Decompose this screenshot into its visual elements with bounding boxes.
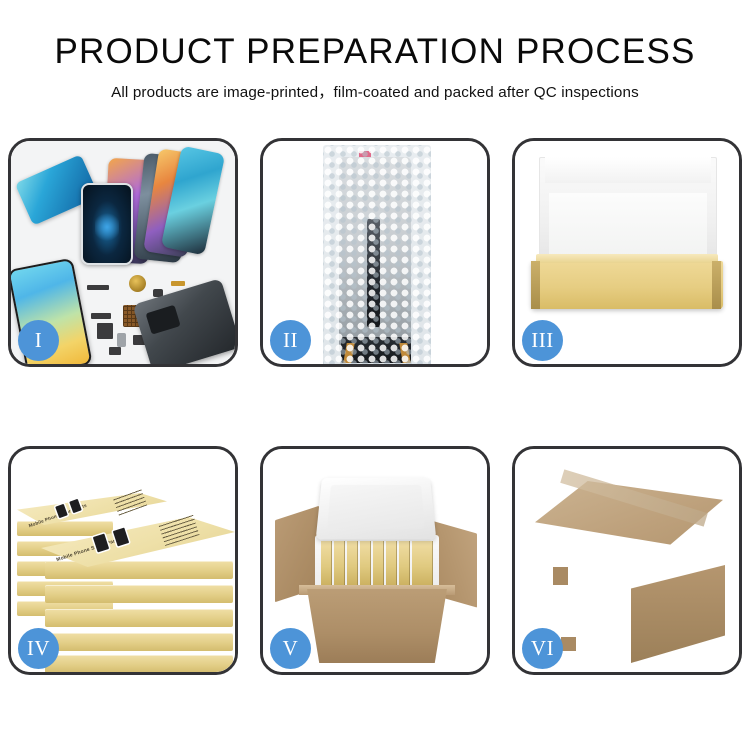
step-badge-1: I: [18, 320, 59, 361]
step-badge-2: II: [270, 320, 311, 361]
yellow-boxes-inside: [321, 541, 433, 587]
phone-screen-icon: [81, 183, 133, 265]
page-title: PRODUCT PREPARATION PROCESS: [0, 34, 750, 71]
step-panel-4[interactable]: Mobile Phone Spare Parts Mobile Phone Sp…: [8, 446, 238, 675]
process-steps-grid: I II: [8, 138, 742, 675]
bubble-wrap-package: [323, 145, 431, 364]
step-panel-6[interactable]: VI: [512, 446, 742, 675]
step-badge-4: IV: [18, 628, 59, 669]
step-badge-6: VI: [522, 628, 563, 669]
step-badge-5: V: [270, 628, 311, 669]
page-subtitle: All products are image-printed，film-coat…: [0, 80, 750, 102]
carton-body: [301, 589, 453, 663]
step-panel-3[interactable]: III: [512, 138, 742, 367]
foam-cooler-lid: [316, 478, 437, 540]
step-badge-3: III: [522, 320, 563, 361]
yellow-tray-box: [531, 261, 723, 309]
step-panel-2[interactable]: II: [260, 138, 490, 367]
carton-right-face: [631, 565, 725, 663]
step-panel-1[interactable]: I: [8, 138, 238, 367]
page-header: PRODUCT PREPARATION PROCESS All products…: [0, 0, 750, 102]
step-panel-5[interactable]: V: [260, 446, 490, 675]
